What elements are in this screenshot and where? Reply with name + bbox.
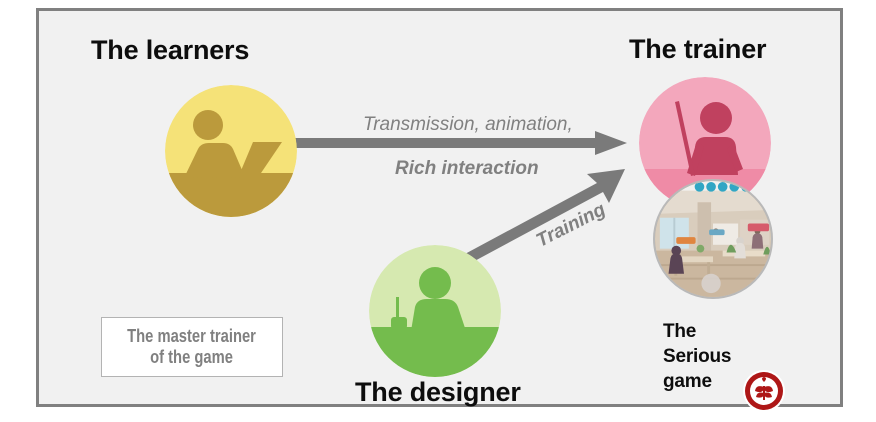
diagram-canvas: The learners The tra [0, 0, 876, 422]
serious-game-screenshot[interactable] [653, 179, 773, 299]
connector-label-training: Training [533, 199, 609, 252]
diagram-frame: The learners The tra [36, 8, 843, 407]
master-trainer-caption-text: The master trainer of the game [128, 326, 257, 368]
learners-title: The learners [91, 35, 249, 66]
connector-label-rich-interaction: Rich interaction [395, 158, 539, 180]
connector-label-transmission: Transmission, animation, [363, 114, 573, 136]
trainer-title: The trainer [629, 34, 766, 65]
master-trainer-caption-box: The master trainer of the game [101, 317, 283, 377]
learner-at-laptop-icon [165, 85, 297, 217]
designer-title: The designer [355, 377, 521, 408]
designer-at-desk-icon [369, 245, 501, 377]
sprout-logo-icon [742, 369, 786, 413]
